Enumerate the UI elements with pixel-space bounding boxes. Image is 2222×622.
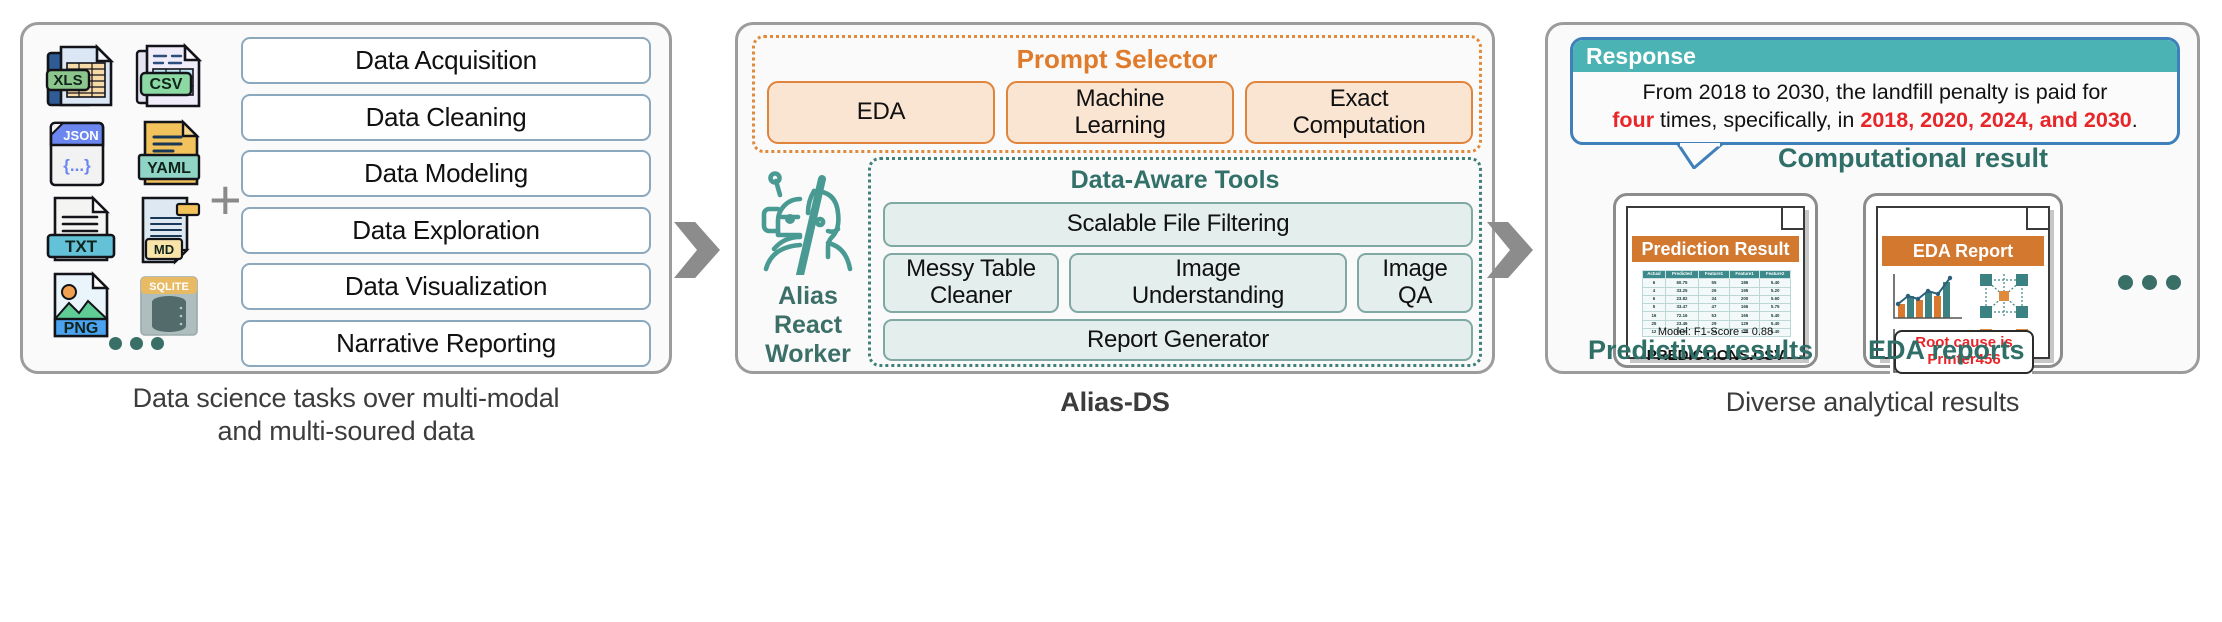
cell: 165 bbox=[1729, 312, 1760, 320]
csv-file-icon: CSV bbox=[133, 43, 211, 113]
data-aware-tools-title: Data-Aware Tools bbox=[871, 166, 1479, 195]
response-line1-years: 2018 to 2030 bbox=[1699, 80, 1825, 104]
cell: 186 bbox=[1729, 279, 1760, 287]
table-row: 660.75551865.40 bbox=[1643, 279, 1791, 287]
tool-report-generator[interactable]: Report Generator bbox=[883, 319, 1473, 361]
cell: 53 bbox=[1699, 312, 1730, 320]
cell: 166 bbox=[1729, 304, 1760, 312]
tool-row: Messy TableCleaner ImageUnderstanding Im… bbox=[883, 253, 1473, 313]
cell: 16 bbox=[1643, 312, 1666, 320]
xls-file-icon: XLS bbox=[45, 43, 123, 113]
cell: 5.40 bbox=[1760, 312, 1791, 320]
task-chip-narrative-reporting[interactable]: Narrative Reporting bbox=[241, 320, 651, 367]
svg-text:XLS: XLS bbox=[53, 72, 82, 89]
cell: 34 bbox=[1699, 295, 1730, 303]
cell: 195 bbox=[1729, 287, 1760, 295]
response-line2-mid: times, specifically, in bbox=[1654, 108, 1860, 132]
table-row: 623.82342005.60 bbox=[1643, 295, 1791, 303]
table-row: 1672.16531655.40 bbox=[1643, 312, 1791, 320]
file-type-icon-grid: XLS bbox=[45, 39, 217, 339]
svg-text:{...}: {...} bbox=[63, 156, 91, 175]
robot-human-avatar-icon bbox=[758, 165, 858, 280]
cell: 26 bbox=[1699, 287, 1730, 295]
prompt-selector-options: EDA MachineLearning ExactComputation bbox=[767, 81, 1473, 144]
prompt-selector-group: Prompt Selector EDA MachineLearning Exac… bbox=[752, 35, 1482, 153]
tool-messy-table-cleaner[interactable]: Messy TableCleaner bbox=[883, 253, 1059, 313]
task-list: Data Acquisition Data Cleaning Data Mode… bbox=[241, 37, 651, 367]
tool-image-qa[interactable]: ImageQA bbox=[1357, 253, 1473, 313]
cell: 55 bbox=[1699, 279, 1730, 287]
response-text: From 2018 to 2030, the landfill penalty … bbox=[1573, 72, 2177, 135]
response-line1-prefix: From bbox=[1643, 80, 1699, 104]
response-years-highlight: 2018, 2020, 2024, and 2030 bbox=[1860, 108, 2131, 132]
response-count-highlight: four bbox=[1612, 108, 1654, 132]
svg-text:YAML: YAML bbox=[147, 160, 191, 177]
prompt-selector-title: Prompt Selector bbox=[755, 44, 1479, 75]
eda-reports-label: EDA reports bbox=[1868, 335, 2025, 366]
task-chip-data-exploration[interactable]: Data Exploration bbox=[241, 207, 651, 254]
response-line1-rest: , the landfill penalty is paid for bbox=[1824, 80, 2107, 104]
response-line2-end: . bbox=[2132, 108, 2138, 132]
task-chip-data-acquisition[interactable]: Data Acquisition bbox=[241, 37, 651, 84]
page-fold-corner bbox=[2026, 208, 2048, 230]
page-fold-corner bbox=[1781, 208, 1803, 230]
yaml-file-icon: YAML bbox=[133, 119, 211, 189]
panel-results: Response From 2018 to 2030, the landfill… bbox=[1545, 22, 2200, 374]
sqlite-file-icon: SQLITE bbox=[133, 271, 211, 341]
more-files-indicator bbox=[109, 337, 164, 350]
computational-result-label: Computational result bbox=[1778, 143, 2048, 174]
cell: 33.25 bbox=[1665, 287, 1698, 295]
prompt-option-machine-learning[interactable]: MachineLearning bbox=[1006, 81, 1234, 144]
prediction-table-header-row: Actual Predicted Feature1 Feature1 Featu… bbox=[1643, 271, 1791, 279]
bubble-tail bbox=[1676, 143, 1724, 169]
svg-text:CSV: CSV bbox=[150, 76, 183, 93]
alias-react-worker: AliasReactWorker bbox=[748, 165, 868, 365]
cell: 4 bbox=[1643, 287, 1666, 295]
task-chip-data-modeling[interactable]: Data Modeling bbox=[241, 150, 651, 197]
data-aware-tools-group: Data-Aware Tools Scalable File Filtering… bbox=[868, 157, 1482, 367]
cell: 5.20 bbox=[1760, 287, 1791, 295]
cell: 47 bbox=[1699, 304, 1730, 312]
plus-symbol: + bbox=[209, 185, 245, 221]
task-chip-data-cleaning[interactable]: Data Cleaning bbox=[241, 94, 651, 141]
cell: 6 bbox=[1643, 295, 1666, 303]
cell: 72.16 bbox=[1665, 312, 1698, 320]
cell: 6 bbox=[1643, 279, 1666, 287]
panel-data-sources: XLS bbox=[20, 22, 672, 374]
more-results-indicator bbox=[2118, 275, 2181, 290]
tool-image-understanding[interactable]: ImageUnderstanding bbox=[1069, 253, 1347, 313]
svg-text:TXT: TXT bbox=[65, 237, 98, 256]
table-row: 533.47471665.75 bbox=[1643, 304, 1791, 312]
predictive-results-label: Predictive results bbox=[1588, 335, 1813, 366]
md-file-icon: MD bbox=[133, 195, 211, 265]
cell: 23.82 bbox=[1665, 295, 1698, 303]
json-file-icon: JSON {...} bbox=[45, 119, 123, 189]
txt-file-icon: TXT bbox=[45, 195, 123, 265]
figure-root: XLS bbox=[0, 0, 2222, 622]
th-feature1a: Feature1 bbox=[1699, 271, 1730, 279]
alias-react-worker-label: AliasReactWorker bbox=[765, 282, 851, 369]
svg-text:PNG: PNG bbox=[64, 320, 99, 337]
cell: 5.60 bbox=[1760, 295, 1791, 303]
svg-text:MD: MD bbox=[154, 242, 174, 257]
th-actual: Actual bbox=[1643, 271, 1666, 279]
svg-text:SQLITE: SQLITE bbox=[149, 281, 189, 293]
panel-alias-ds: Prompt Selector EDA MachineLearning Exac… bbox=[735, 22, 1495, 374]
eda-network-teal-icon bbox=[1976, 270, 2032, 322]
eda-report-band-title: EDA Report bbox=[1882, 236, 2044, 266]
prompt-option-exact-computation[interactable]: ExactComputation bbox=[1245, 81, 1473, 144]
response-bubble: Response From 2018 to 2030, the landfill… bbox=[1570, 37, 2180, 145]
tool-scalable-file-filtering[interactable]: Scalable File Filtering bbox=[883, 202, 1473, 247]
left-panel-caption: Data science tasks over multi-modaland m… bbox=[20, 382, 672, 448]
cell: 60.75 bbox=[1665, 279, 1698, 287]
th-feature2: Feature2 bbox=[1760, 271, 1791, 279]
svg-text:JSON: JSON bbox=[63, 128, 98, 143]
th-feature1b: Feature1 bbox=[1729, 271, 1760, 279]
task-chip-data-visualization[interactable]: Data Visualization bbox=[241, 263, 651, 310]
cell: 33.47 bbox=[1665, 304, 1698, 312]
eda-bar-line-chart-icon bbox=[1890, 270, 1965, 322]
right-panel-caption: Diverse analytical results bbox=[1545, 386, 2200, 419]
cell: 5.75 bbox=[1760, 304, 1791, 312]
table-row: 433.25261955.20 bbox=[1643, 287, 1791, 295]
png-file-icon: PNG bbox=[45, 271, 123, 341]
cell: 5 bbox=[1643, 304, 1666, 312]
prompt-option-eda[interactable]: EDA bbox=[767, 81, 995, 144]
th-predicted: Predicted bbox=[1665, 271, 1698, 279]
prediction-result-band-title: Prediction Result bbox=[1632, 236, 1799, 262]
cell: 200 bbox=[1729, 295, 1760, 303]
middle-panel-caption: Alias-DS bbox=[735, 386, 1495, 419]
flow-arrow-left-to-middle bbox=[674, 222, 720, 278]
response-header: Response bbox=[1573, 40, 2177, 72]
cell: 5.40 bbox=[1760, 279, 1791, 287]
